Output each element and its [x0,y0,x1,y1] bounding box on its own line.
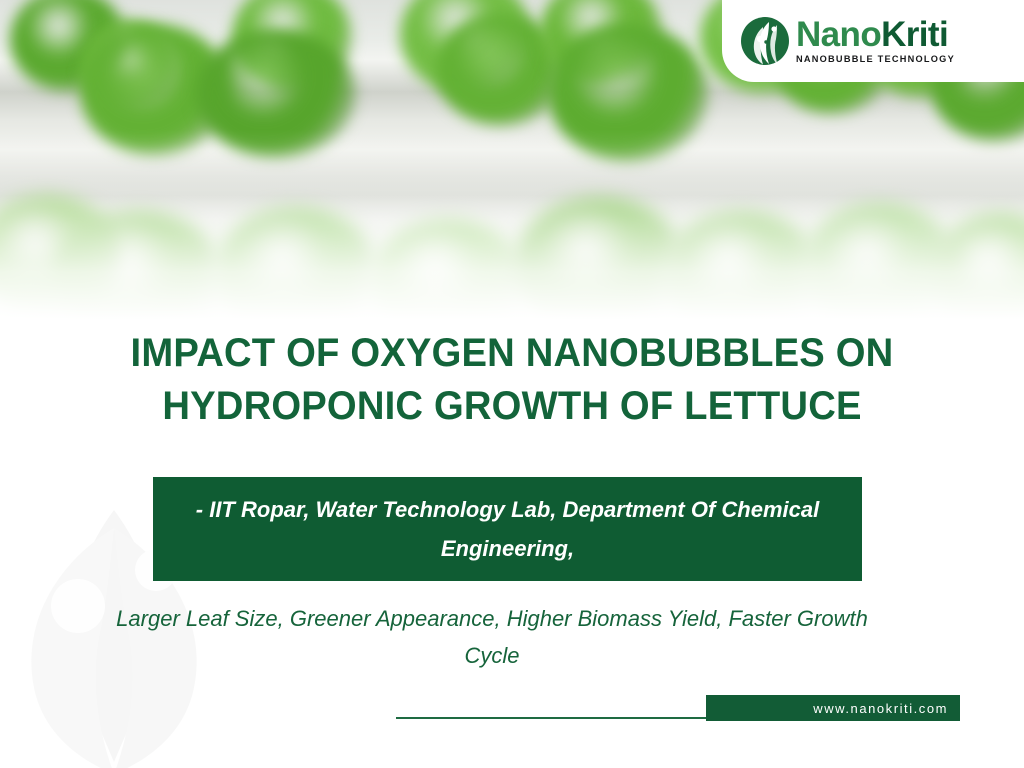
logo-wordmark-kriti: Kriti [881,15,948,54]
logo-tagline: NANOBUBBLE TECHNOLOGY [796,54,957,64]
brand-logo-panel[interactable]: NanoKriti NANOBUBBLE TECHNOLOGY [722,0,1024,82]
footer-website-badge[interactable]: www.nanokriti.com [706,695,960,721]
logo-wordmark-block: NanoKriti NANOBUBBLE TECHNOLOGY [796,18,957,63]
affiliation-banner: - IIT Ropar, Water Technology Lab, Depar… [153,477,862,581]
logo-wordmark: NanoKriti [796,18,957,52]
logo-wordmark-nano: Nano [796,15,881,54]
footer-divider-line [396,717,712,719]
footer-website-url: www.nanokriti.com [813,701,948,716]
affiliation-text: - IIT Ropar, Water Technology Lab, Depar… [153,490,862,568]
presentation-slide: NanoKriti NANOBUBBLE TECHNOLOGY IMPACT O… [0,0,1024,768]
slide-subtitle: Larger Leaf Size, Greener Appearance, Hi… [92,600,892,674]
slide-title: IMPACT OF OXYGEN NANOBUBBLES ON HYDROPON… [82,327,942,433]
nanokriti-leaf-emblem-icon [740,16,790,66]
